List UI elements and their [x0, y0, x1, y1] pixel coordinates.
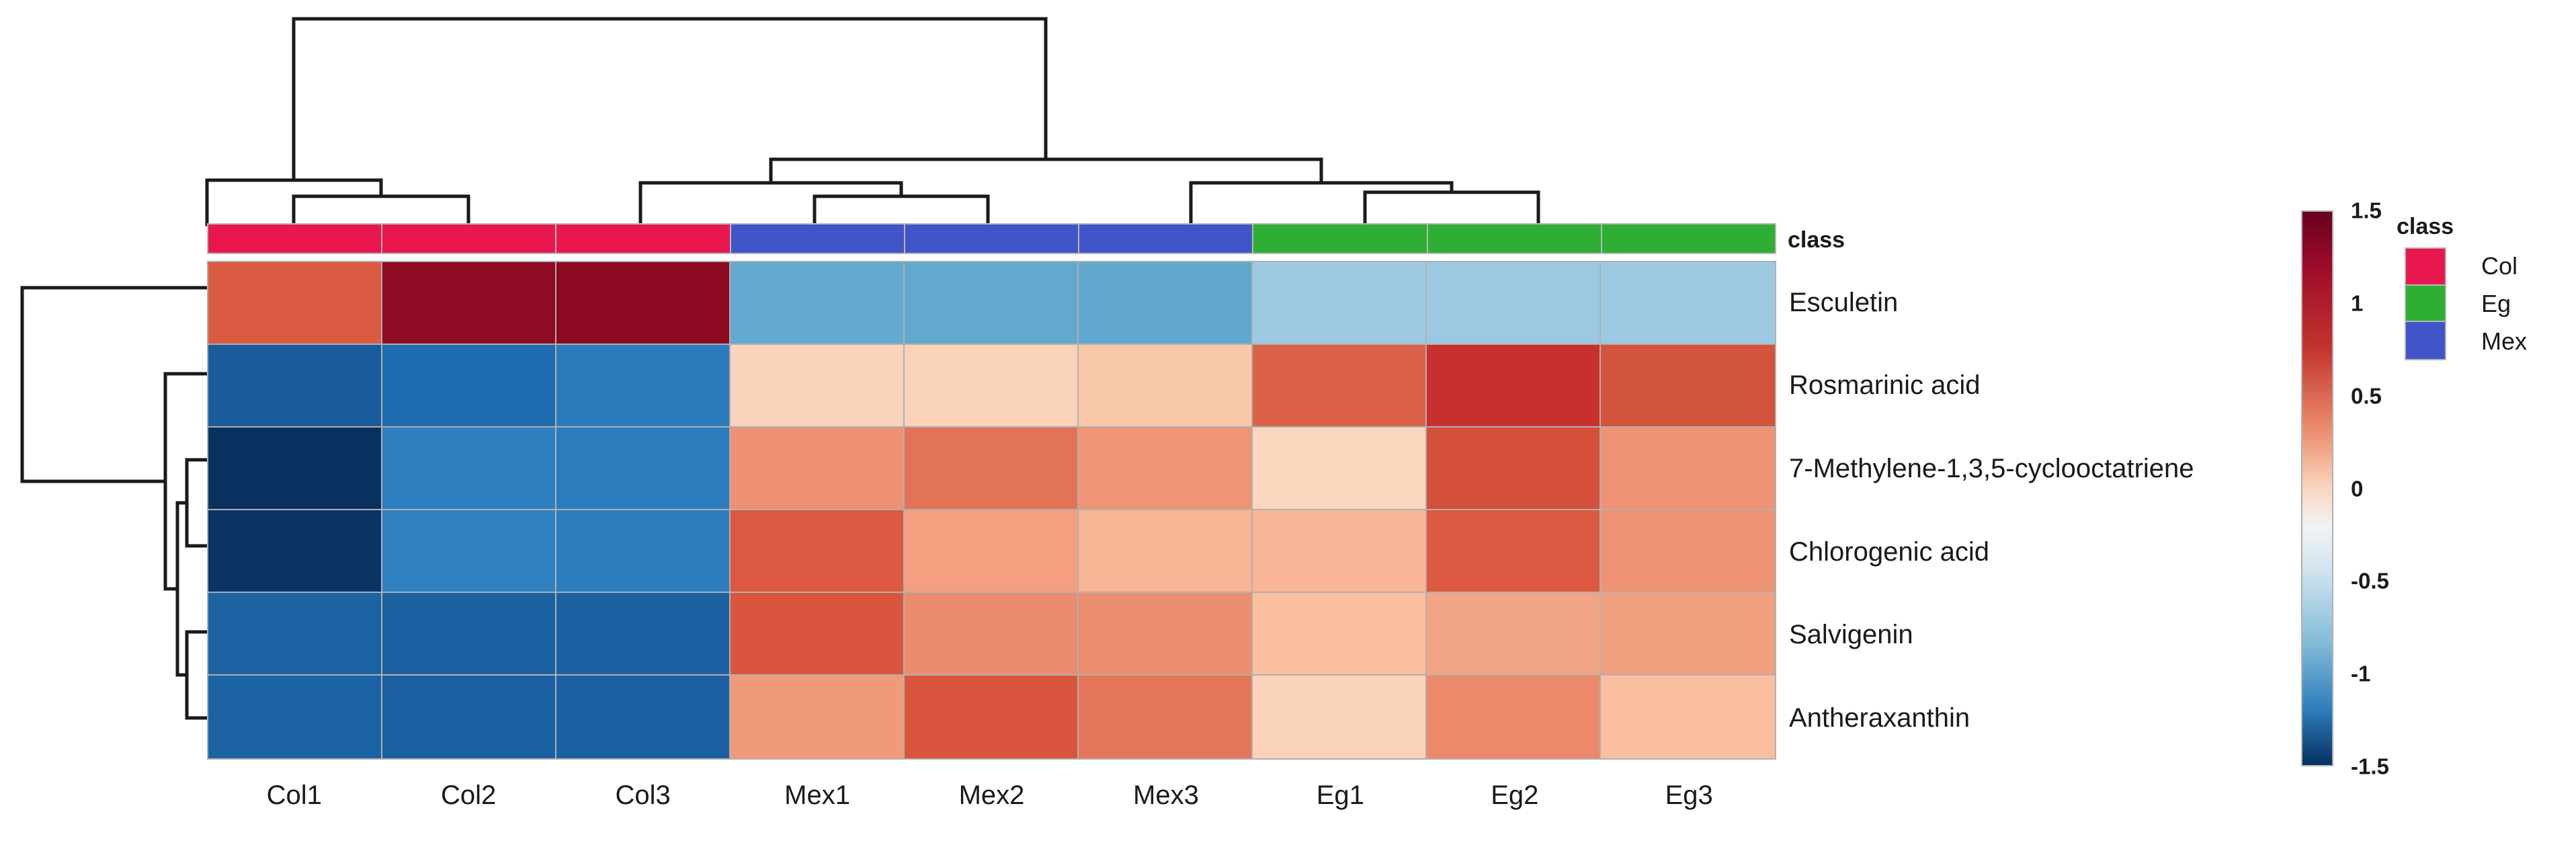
class-cell-eg1	[1253, 225, 1427, 253]
colorbar-tick-label: 0	[2351, 477, 2363, 499]
heatmap-cell	[905, 345, 1079, 428]
heatmap-cell	[1079, 262, 1253, 345]
column-label: Mex1	[730, 782, 904, 809]
heatmap-grid	[207, 261, 1776, 760]
class-legend-title: class	[2397, 215, 2454, 238]
dendro-link-mex2-mex3	[815, 196, 988, 225]
class-cell-mex2	[905, 225, 1079, 253]
column-dendrogram	[0, 0, 1815, 229]
heatmap-cell	[1427, 676, 1601, 758]
class-annotation-strip	[207, 223, 1776, 254]
colorbar-tick-label: -1.5	[2351, 756, 2389, 778]
colorbar-tick-label: 0.5	[2351, 385, 2382, 407]
class-legend-swatches	[2405, 247, 2446, 360]
heatmap-cell	[731, 262, 905, 345]
heatmap-cell	[1253, 428, 1427, 510]
legend-label-mex: Mex	[2481, 329, 2527, 354]
row-dendrogram	[0, 255, 208, 766]
heatmap-cell	[731, 676, 905, 758]
legend-swatch-mex	[2406, 322, 2445, 359]
heatmap-cell	[1253, 345, 1427, 428]
column-label: Mex3	[1079, 782, 1253, 809]
legend-label-col: Col	[2481, 254, 2518, 278]
heatmap-cell	[1601, 510, 1775, 593]
heatmap-cell	[382, 510, 556, 593]
heatmap-cell	[208, 510, 382, 593]
legend-label-eg: Eg	[2481, 292, 2511, 316]
heatmap-cell	[1079, 510, 1253, 593]
heatmap-cell	[556, 345, 731, 428]
heatmap-cell	[1427, 262, 1601, 345]
dendro-link-root	[294, 19, 1046, 180]
column-label: Mex2	[905, 782, 1079, 809]
heatmap-cell	[1601, 676, 1775, 758]
heatmap-cell	[556, 676, 731, 758]
heatmap-cell	[382, 262, 556, 345]
heatmap-cell	[382, 345, 556, 428]
heatmap-cell	[731, 428, 905, 510]
class-cell-eg3	[1602, 225, 1775, 253]
heatmap-cell	[1253, 510, 1427, 593]
heatmap-cell	[905, 428, 1079, 510]
heatmap-cell	[1253, 676, 1427, 758]
heatmap-cell	[731, 345, 905, 428]
heatmap-cell	[1427, 510, 1601, 593]
class-cell-eg2	[1428, 225, 1602, 253]
colorbar-tick-label: 1	[2351, 292, 2363, 314]
colorbar-tick-label: -1	[2351, 663, 2370, 685]
colorbar	[2301, 210, 2333, 766]
heatmap-cell	[208, 428, 382, 510]
heatmap-cell	[1601, 262, 1775, 345]
heatmap-cell	[208, 676, 382, 758]
class-cell-mex1	[731, 225, 905, 253]
heatmap-cell	[556, 262, 731, 345]
column-label: Col1	[207, 782, 381, 809]
heatmap-cell	[208, 593, 382, 676]
heatmap-cell	[1601, 428, 1775, 510]
heatmap-cell	[1079, 676, 1253, 758]
column-label: Eg3	[1602, 782, 1776, 809]
heatmap-cell	[905, 510, 1079, 593]
heatmap-cell	[1427, 428, 1601, 510]
dendro-link-eg1-egcluster	[1191, 183, 1452, 225]
heatmap-cell	[556, 593, 731, 676]
class-cell-col2	[382, 225, 556, 253]
dendro-row-link-methylene-chlorogenic	[187, 460, 207, 546]
row-label: Antheraxanthin	[1789, 676, 2461, 760]
dendro-link-col2-col3	[294, 196, 468, 225]
heatmap-cell	[1079, 428, 1253, 510]
heatmap-cell	[208, 262, 382, 345]
heatmap-cell	[208, 345, 382, 428]
class-cell-col1	[208, 225, 382, 253]
column-label: Col3	[556, 782, 730, 809]
legend-swatch-col	[2406, 249, 2445, 286]
heatmap-cell	[1253, 262, 1427, 345]
dendro-link-mex1-mexcluster	[640, 183, 901, 225]
heatmap-cell	[1427, 593, 1601, 676]
column-label: Eg1	[1253, 782, 1427, 809]
heatmap-cell	[905, 262, 1079, 345]
heatmap-cell	[905, 593, 1079, 676]
dendro-row-link-root	[22, 288, 207, 481]
heatmap-cell	[556, 428, 731, 510]
heatmap-cell	[382, 428, 556, 510]
heatmap-cell	[556, 510, 731, 593]
heatmap-cell	[382, 593, 556, 676]
heatmap-cell	[731, 593, 905, 676]
class-cell-col3	[556, 225, 731, 253]
class-cell-mex3	[1079, 225, 1253, 253]
heatmap-cell	[905, 676, 1079, 758]
heatmap-cell	[1079, 345, 1253, 428]
column-labels: Col1Col2Col3Mex1Mex2Mex3Eg1Eg2Eg3	[207, 782, 1776, 809]
colorbar-tick-label: -0.5	[2351, 570, 2389, 592]
heatmap-cell	[382, 676, 556, 758]
heatmap-figure: class EsculetinRosmarinic acid7-Methylen…	[0, 0, 2576, 845]
legend-swatch-eg	[2406, 286, 2445, 323]
heatmap-cell	[1427, 345, 1601, 428]
heatmap-cell	[1601, 593, 1775, 676]
column-label: Eg2	[1427, 782, 1602, 809]
dendro-link-mex-eg	[771, 159, 1321, 183]
dendro-link-eg2-eg3	[1365, 192, 1538, 225]
dendro-row-link-salvigenin-antheraxanthin	[187, 632, 207, 718]
heatmap-cell	[1079, 593, 1253, 676]
class-annotation-label: class	[1788, 229, 1845, 251]
heatmap-cell	[1601, 345, 1775, 428]
heatmap-cell	[731, 510, 905, 593]
heatmap-cell	[1253, 593, 1427, 676]
colorbar-tick-label: 1.5	[2351, 200, 2382, 222]
column-label: Col2	[381, 782, 555, 809]
